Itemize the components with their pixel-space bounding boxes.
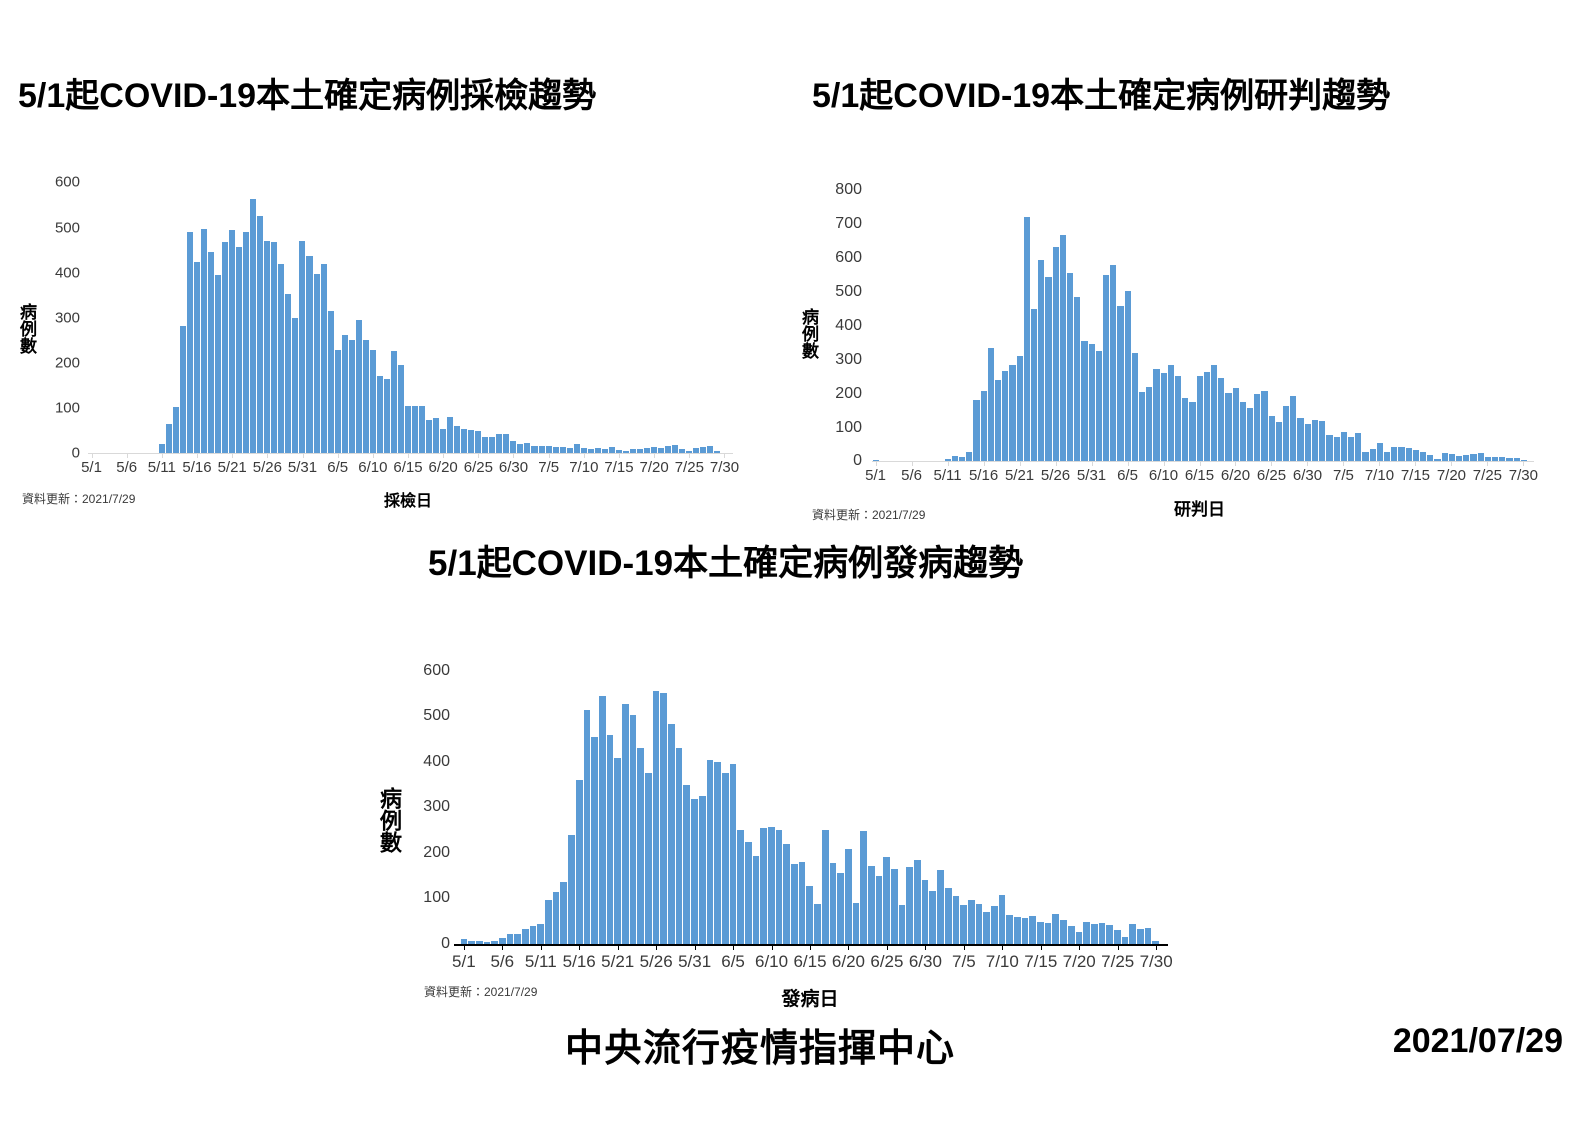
x-tick-mark — [733, 944, 734, 950]
x-tick-mark — [1128, 461, 1129, 466]
y-tick-label: 500 — [423, 707, 450, 725]
x-tick-label: 7/15 — [604, 459, 633, 476]
x-tick-label: 6/30 — [499, 459, 528, 476]
bar — [1326, 435, 1332, 462]
x-tick-mark — [549, 453, 550, 458]
y-tick-label: 300 — [55, 309, 80, 326]
bar — [868, 866, 875, 944]
y-tick-label: 400 — [55, 264, 80, 281]
bar — [1081, 341, 1087, 462]
x-tick-mark — [1379, 461, 1380, 466]
chart-onset: 病例數 0100200300400500600 5/15/65/115/165/… — [398, 666, 1198, 1011]
bar — [651, 447, 657, 454]
bar — [1139, 392, 1145, 461]
x-tick-label: 7/10 — [569, 459, 598, 476]
x-tick-label: 5/11 — [148, 459, 176, 476]
bar — [1197, 376, 1203, 461]
y-tick-label: 100 — [423, 889, 450, 907]
bar — [321, 264, 327, 454]
bar — [1413, 450, 1419, 462]
bar — [1037, 922, 1044, 944]
bar — [914, 860, 921, 943]
bar — [1145, 928, 1152, 944]
x-tick-label: 5/26 — [253, 459, 282, 476]
bar — [264, 241, 270, 454]
bar — [1161, 373, 1167, 462]
y-tick-label: 300 — [835, 351, 862, 369]
bar — [1122, 937, 1129, 944]
x-tick-mark — [1271, 461, 1272, 466]
y-tick-label: 300 — [423, 798, 450, 816]
bar — [306, 256, 312, 454]
bar — [391, 351, 397, 454]
x-tick-label: 6/10 — [1149, 467, 1178, 484]
bar — [1398, 447, 1404, 461]
bar — [454, 426, 460, 453]
y-axis-ticks-determination: 0100200300400500600700800 — [816, 185, 862, 461]
x-tick-mark — [984, 461, 985, 466]
x-tick-label: 7/25 — [675, 459, 704, 476]
bar — [1449, 454, 1455, 462]
bar — [215, 275, 221, 454]
bar — [707, 446, 713, 454]
bar — [860, 831, 867, 943]
bar — [426, 420, 432, 453]
x-tick-label: 7/30 — [1509, 467, 1538, 484]
x-tick-label: 5/21 — [601, 952, 634, 972]
x-tick-mark — [925, 944, 926, 950]
y-tick-label: 500 — [835, 283, 862, 301]
x-tick-mark — [1041, 944, 1042, 950]
x-tick-mark — [1235, 461, 1236, 466]
bar — [1211, 365, 1217, 461]
x-tick-label: 6/10 — [755, 952, 788, 972]
bar — [1247, 408, 1253, 461]
bar — [853, 903, 860, 944]
bar — [1022, 918, 1029, 944]
y-tick-label: 600 — [835, 249, 862, 267]
bar — [806, 886, 813, 944]
footer-date: 2021/07/29 — [1393, 1022, 1563, 1061]
x-tick-mark — [810, 944, 811, 950]
bar — [683, 785, 690, 944]
bar — [1297, 418, 1303, 462]
bar — [1254, 394, 1260, 461]
bar — [440, 429, 446, 453]
x-tick-label: 6/15 — [393, 459, 422, 476]
x-tick-label: 6/20 — [832, 952, 865, 972]
x-tick-label: 5/16 — [969, 467, 998, 484]
x-tick-mark — [656, 944, 657, 950]
bar — [1427, 455, 1433, 462]
chart-panel-determination: 5/1起COVID-19本土確定病例研判趨勢 病例數 0100200300400… — [790, 78, 1587, 528]
x-tick-label: 6/5 — [1117, 467, 1138, 484]
x-tick-label: 7/10 — [1365, 467, 1394, 484]
bar — [1384, 452, 1390, 462]
x-tick-label: 5/21 — [1005, 467, 1034, 484]
bar — [1355, 433, 1361, 462]
bar — [370, 350, 376, 454]
bar — [1060, 920, 1067, 944]
x-tick-mark — [1164, 461, 1165, 466]
x-tick-label: 6/25 — [870, 952, 903, 972]
bar — [194, 262, 200, 453]
x-tick-mark — [92, 453, 93, 458]
bar — [1276, 422, 1282, 461]
bar — [1261, 391, 1267, 461]
bar — [576, 780, 583, 943]
chart-title-determination: 5/1起COVID-19本土確定病例研判趨勢 — [812, 78, 1587, 115]
bar — [845, 849, 852, 943]
bar — [591, 737, 598, 943]
x-tick-mark — [1307, 461, 1308, 466]
x-tick-label: 7/20 — [1063, 952, 1096, 972]
bar — [461, 429, 467, 453]
bar — [524, 443, 530, 453]
bar — [672, 445, 678, 453]
bar — [988, 348, 994, 461]
bar — [475, 431, 481, 454]
bar — [1478, 453, 1484, 462]
x-tick-mark — [1523, 461, 1524, 466]
bar — [335, 350, 341, 454]
footer-organization: 中央流行疫情指揮中心 — [565, 1017, 955, 1072]
y-tick-label: 400 — [423, 753, 450, 771]
x-tick-label: 5/16 — [563, 952, 596, 972]
x-tick-label: 7/5 — [1333, 467, 1354, 484]
x-axis-label-determination: 研判日 — [872, 495, 1527, 520]
bar — [1225, 393, 1231, 461]
x-tick-label: 5/1 — [865, 467, 886, 484]
bar — [1334, 437, 1340, 461]
bar — [236, 247, 242, 454]
x-axis-ticks-determination: 5/15/65/115/165/215/265/316/56/106/156/2… — [872, 467, 1527, 491]
y-axis-label-sampling: 病例數 — [18, 285, 35, 371]
bar — [1053, 247, 1059, 461]
x-tick-mark — [1118, 944, 1119, 950]
chart-panel-onset: 5/1起COVID-19本土確定病例發病趨勢 病例數 0100200300400… — [398, 545, 1198, 1010]
x-tick-mark — [724, 453, 725, 458]
x-axis-label-onset: 發病日 — [460, 984, 1160, 1011]
bar — [1045, 923, 1052, 944]
x-axis-line-sampling — [88, 453, 733, 454]
bar — [1129, 924, 1136, 943]
bar — [1068, 926, 1075, 944]
bar — [768, 827, 775, 943]
bar — [539, 446, 545, 453]
bar — [1089, 344, 1095, 461]
bar — [243, 232, 249, 453]
bar — [522, 929, 529, 944]
x-tick-mark — [541, 944, 542, 950]
x-tick-mark — [948, 461, 949, 466]
bar — [960, 905, 967, 944]
bar — [645, 773, 652, 944]
bar — [1377, 443, 1383, 461]
bar — [691, 799, 698, 943]
y-tick-label: 600 — [423, 662, 450, 680]
bar — [1218, 378, 1224, 461]
bar — [271, 242, 277, 453]
bar — [285, 294, 291, 453]
bar — [1074, 297, 1080, 462]
x-tick-label: 6/30 — [1293, 467, 1322, 484]
x-axis-label-sampling: 採檢日 — [88, 487, 728, 511]
bar — [1125, 291, 1131, 462]
x-tick-mark — [1487, 461, 1488, 466]
bar — [973, 400, 979, 461]
x-tick-label: 5/31 — [678, 952, 711, 972]
y-axis-label-determination: 病例數 — [800, 290, 817, 376]
x-tick-label: 6/15 — [793, 952, 826, 972]
bar — [699, 796, 706, 943]
bar — [349, 340, 355, 453]
x-tick-mark — [1156, 944, 1157, 950]
bar — [159, 444, 165, 453]
x-tick-label: 6/5 — [327, 459, 348, 476]
y-tick-label: 700 — [835, 215, 862, 233]
bar — [1096, 351, 1102, 462]
bar — [799, 862, 806, 944]
x-tick-mark — [1020, 461, 1021, 466]
x-axis-line-determination — [872, 461, 1534, 462]
bar — [999, 895, 1006, 944]
bar — [1017, 356, 1023, 462]
bar — [1391, 447, 1397, 462]
x-tick-label: 5/11 — [525, 952, 557, 972]
bar — [1153, 369, 1159, 461]
bar — [257, 216, 263, 453]
bar — [1420, 452, 1426, 462]
x-tick-label: 6/25 — [1257, 467, 1286, 484]
y-tick-label: 0 — [72, 445, 80, 462]
x-tick-mark — [127, 453, 128, 458]
x-tick-label: 5/6 — [116, 459, 137, 476]
data-update-note-sampling: 資料更新：2021/7/29 — [22, 490, 135, 507]
bar — [208, 252, 214, 454]
y-tick-label: 100 — [835, 419, 862, 437]
bar — [1060, 235, 1066, 461]
bar — [503, 434, 509, 454]
x-tick-label: 7/25 — [1101, 952, 1134, 972]
bar — [981, 391, 987, 461]
bar — [560, 882, 567, 943]
bar — [1182, 398, 1188, 462]
bar — [314, 274, 320, 454]
bar — [537, 924, 544, 944]
bar — [1370, 449, 1376, 462]
bar — [292, 318, 298, 454]
bar — [187, 232, 193, 454]
y-tick-label: 200 — [423, 844, 450, 862]
bar — [166, 424, 172, 453]
x-tick-mark — [1079, 944, 1080, 950]
bar — [482, 437, 488, 454]
y-axis-ticks-onset: 0100200300400500600 — [404, 666, 450, 944]
bar — [398, 365, 404, 454]
x-tick-mark — [232, 453, 233, 458]
bar — [377, 376, 383, 454]
bar — [737, 830, 744, 943]
y-tick-label: 0 — [441, 935, 450, 953]
x-tick-label: 5/21 — [218, 459, 247, 476]
bar — [753, 856, 760, 944]
bar — [405, 406, 411, 453]
bar — [229, 230, 235, 453]
bar — [1029, 916, 1036, 944]
bar — [250, 199, 256, 453]
bar — [991, 906, 998, 944]
x-tick-mark — [464, 944, 465, 950]
bar — [630, 715, 637, 943]
bar — [1024, 217, 1030, 462]
x-tick-mark — [197, 453, 198, 458]
x-tick-label: 7/30 — [710, 459, 739, 476]
bar — [574, 444, 580, 453]
bar — [1137, 929, 1144, 944]
bar — [722, 773, 729, 943]
bar — [299, 241, 305, 453]
bar — [891, 869, 898, 944]
bar — [1175, 376, 1181, 461]
x-tick-mark — [303, 453, 304, 458]
x-tick-label: 6/5 — [721, 952, 745, 972]
x-tick-label: 5/1 — [452, 952, 476, 972]
bar — [1305, 424, 1311, 461]
bar — [983, 912, 990, 944]
bar — [468, 430, 474, 453]
bar — [1106, 925, 1113, 944]
bar — [968, 900, 975, 944]
x-tick-label: 5/11 — [934, 467, 962, 484]
bar — [517, 444, 523, 453]
bar — [607, 735, 614, 944]
bar — [814, 904, 821, 944]
bar — [1233, 388, 1239, 462]
x-tick-label: 7/25 — [1473, 467, 1502, 484]
x-tick-mark — [964, 944, 965, 950]
y-tick-label: 200 — [55, 355, 80, 372]
bar — [953, 896, 960, 943]
bar — [1117, 306, 1123, 461]
y-axis-ticks-sampling: 0100200300400500600 — [34, 177, 80, 453]
bar — [976, 904, 983, 944]
x-axis-ticks-onset: 5/15/65/115/165/215/265/316/56/106/156/2… — [460, 952, 1160, 976]
bar — [1114, 930, 1121, 944]
bar — [883, 857, 890, 944]
bar — [776, 830, 783, 943]
x-tick-mark — [443, 453, 444, 458]
chart-panel-sampling: 5/1起COVID-19本土確定病例採檢趨勢 病例數 0100200300400… — [0, 78, 790, 518]
bar — [830, 863, 837, 944]
bar — [514, 934, 521, 944]
bar — [412, 406, 418, 453]
bar — [545, 900, 552, 944]
slide-root: 5/1起COVID-19本土確定病例採檢趨勢 病例數 0100200300400… — [0, 0, 1587, 1123]
x-tick-mark — [584, 453, 585, 458]
bar — [906, 867, 913, 944]
x-tick-label: 5/26 — [1041, 467, 1070, 484]
x-tick-label: 7/5 — [952, 952, 976, 972]
x-tick-mark — [1056, 461, 1057, 466]
chart-determination: 病例數 0100200300400500600700800 5/15/65/11… — [790, 185, 1587, 525]
bar — [1348, 437, 1354, 461]
x-tick-mark — [848, 944, 849, 950]
bar — [489, 437, 495, 453]
bar — [1312, 420, 1318, 461]
bar — [1038, 260, 1044, 461]
y-tick-label: 200 — [835, 385, 862, 403]
bar — [553, 892, 560, 944]
x-tick-label: 5/16 — [182, 459, 211, 476]
bar — [665, 446, 671, 453]
bar — [419, 406, 425, 453]
bar — [1052, 914, 1059, 944]
bar — [584, 710, 591, 944]
bar — [1132, 353, 1138, 462]
chart-title-sampling: 5/1起COVID-19本土確定病例採檢趨勢 — [18, 78, 790, 115]
bar — [922, 880, 929, 944]
x-tick-label: 6/15 — [1185, 467, 1214, 484]
bar — [1083, 922, 1090, 944]
y-tick-label: 500 — [55, 219, 80, 236]
bar — [201, 229, 207, 453]
bar — [668, 724, 675, 944]
x-tick-label: 6/10 — [358, 459, 387, 476]
bar — [937, 870, 944, 944]
bar — [614, 758, 621, 943]
bar — [1031, 309, 1037, 462]
x-tick-mark — [618, 944, 619, 950]
bar — [653, 691, 660, 944]
bar — [507, 934, 514, 944]
x-tick-mark — [876, 461, 877, 466]
bar — [714, 762, 721, 944]
bar — [637, 748, 644, 944]
bar — [363, 340, 369, 453]
bar — [783, 844, 790, 944]
bar — [496, 434, 502, 454]
bar — [1045, 277, 1051, 461]
y-tick-label: 100 — [55, 400, 80, 417]
data-update-note-determination: 資料更新：2021/7/29 — [812, 506, 925, 523]
bar — [791, 864, 798, 943]
bar — [1110, 265, 1116, 461]
x-tick-label: 6/20 — [1221, 467, 1250, 484]
x-tick-mark — [1200, 461, 1201, 466]
bar — [1319, 421, 1325, 461]
bar — [599, 696, 606, 943]
bar — [546, 446, 552, 453]
chart-title-onset: 5/1起COVID-19本土確定病例發病趨勢 — [428, 545, 1198, 584]
x-tick-label: 7/15 — [1401, 467, 1430, 484]
x-tick-label: 7/20 — [1437, 467, 1466, 484]
x-axis-line-onset — [454, 944, 1168, 946]
x-tick-label: 7/5 — [538, 459, 559, 476]
x-tick-mark — [772, 944, 773, 950]
x-tick-mark — [373, 453, 374, 458]
chart-sampling: 病例數 0100200300400500600 5/15/65/115/165/… — [0, 177, 790, 507]
bar — [1146, 387, 1152, 461]
x-tick-label: 6/30 — [909, 952, 942, 972]
x-tick-label: 7/20 — [640, 459, 669, 476]
bar — [945, 888, 952, 944]
y-tick-label: 0 — [853, 452, 862, 470]
bar — [1204, 372, 1210, 461]
bar — [278, 264, 284, 453]
bar — [1269, 416, 1275, 461]
bar — [433, 418, 439, 453]
